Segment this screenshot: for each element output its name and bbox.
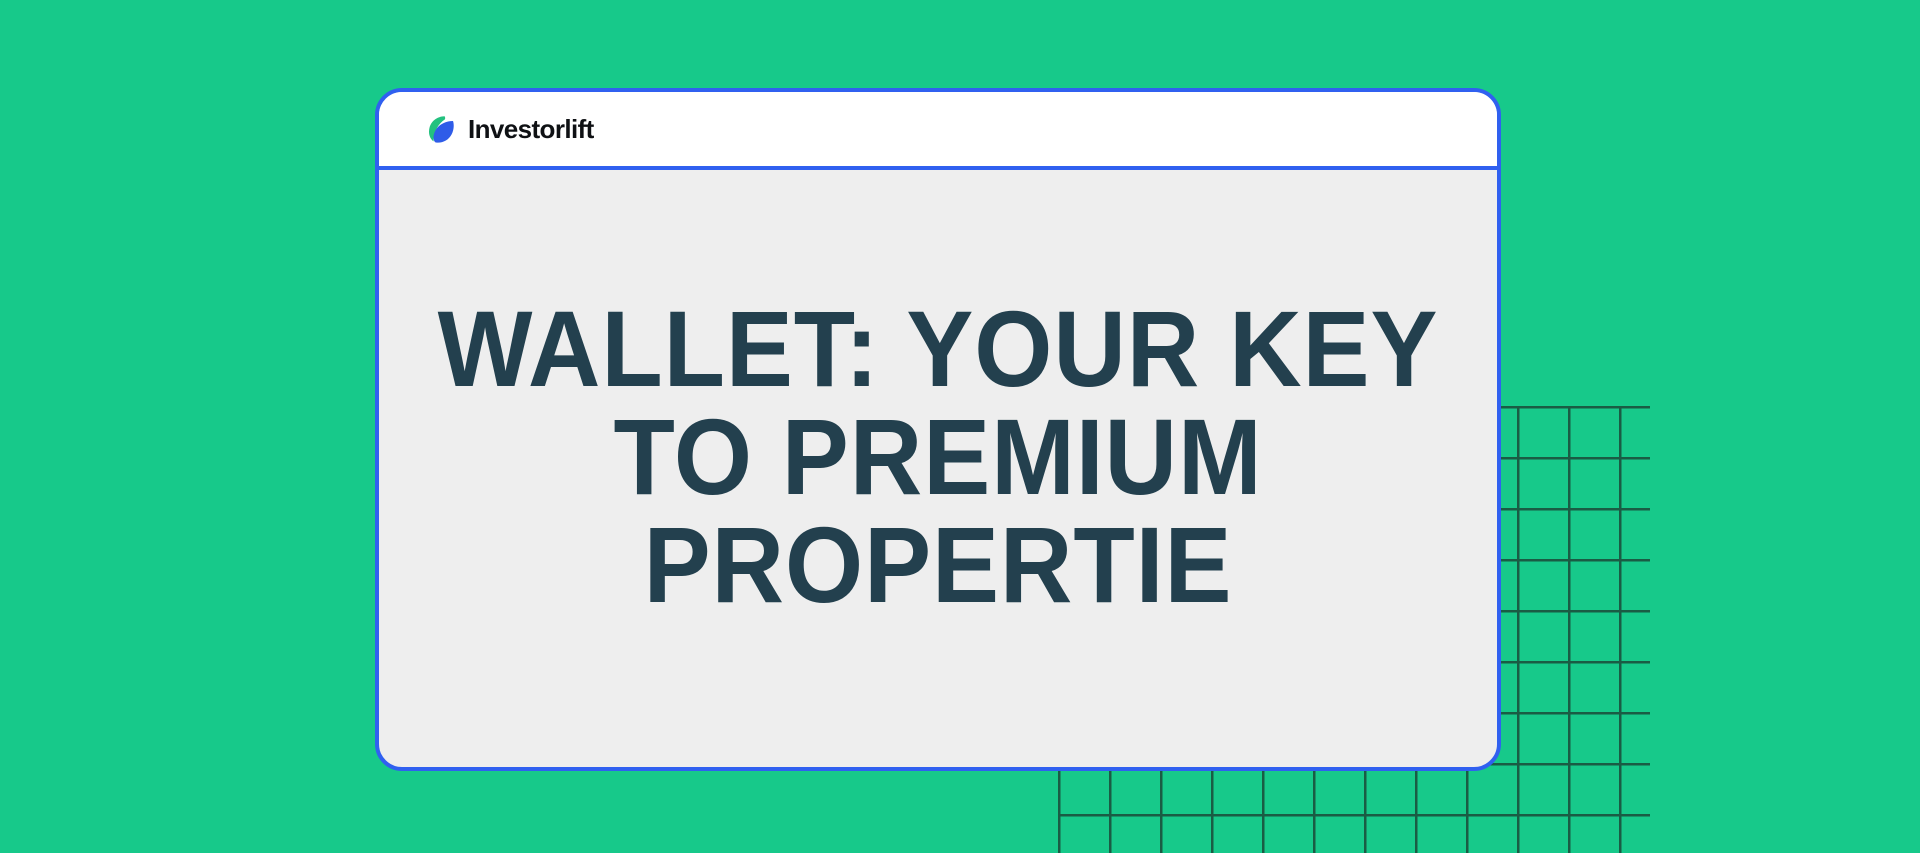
card-body: WALLET: YOUR KEY TO PREMIUM PROPERTIE: [379, 170, 1497, 767]
investorlift-leaf-logo-icon: [425, 113, 457, 145]
card-header-bar: Investorlift: [379, 92, 1497, 170]
headline-line-1: WALLET: YOUR KEY: [438, 295, 1439, 403]
page-canvas: Investorlift WALLET: YOUR KEY TO PREMIUM…: [0, 0, 1920, 853]
brand-logo[interactable]: Investorlift: [425, 113, 594, 145]
headline-line-2: TO PREMIUM: [438, 403, 1439, 511]
brand-wordmark-text: Investorlift: [468, 116, 594, 142]
content-card: Investorlift WALLET: YOUR KEY TO PREMIUM…: [375, 88, 1501, 771]
page-title: WALLET: YOUR KEY TO PREMIUM PROPERTIE: [438, 295, 1439, 619]
headline-line-3: PROPERTIE: [438, 511, 1439, 619]
